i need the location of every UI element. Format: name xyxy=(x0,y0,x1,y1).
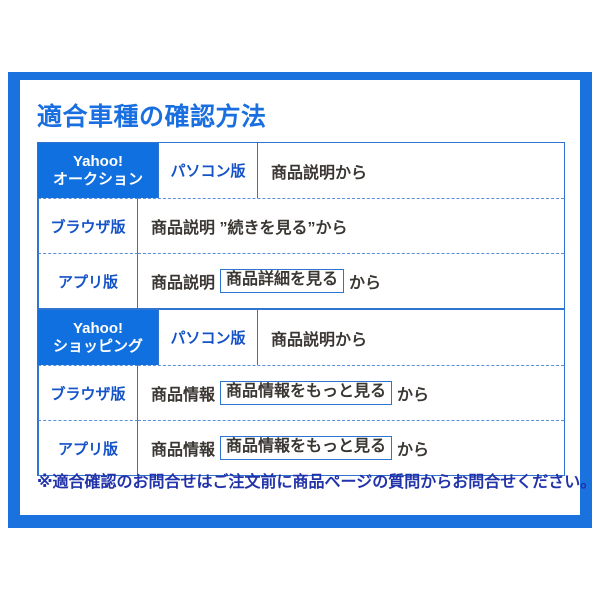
table-row: アプリ版 商品情報 商品情報をもっと見る から xyxy=(38,420,564,475)
table-group-yahoo-auction: Yahoo! オークション パソコン版 商品説明から ブラウザ版 商品説明 ”続… xyxy=(38,143,564,308)
instruction-prefix: 商品説明から xyxy=(271,159,367,183)
instruction-prefix: 商品説明 ”続きを見る”から xyxy=(151,214,347,238)
compatibility-table: Yahoo! オークション パソコン版 商品説明から ブラウザ版 商品説明 ”続… xyxy=(37,142,565,476)
table-row: ブラウザ版 商品説明 ”続きを見る”から xyxy=(38,198,564,253)
boxed-button-label: 商品詳細を見る xyxy=(220,269,344,293)
instruction-prefix: 商品情報 xyxy=(151,436,215,460)
boxed-button-label: 商品情報をもっと見る xyxy=(220,436,392,460)
instruction-prefix: 商品説明 xyxy=(151,269,215,293)
instruction-cell: 商品説明から xyxy=(258,143,564,198)
instruction-cell: 商品情報 商品情報をもっと見る から xyxy=(138,420,564,475)
table-group-yahoo-shopping: Yahoo! ショッピング パソコン版 商品説明から ブラウザ版 商品情報 商品… xyxy=(38,308,564,475)
platform-cell: ブラウザ版 xyxy=(38,365,138,420)
brand-cell-yahoo-auction: Yahoo! オークション xyxy=(38,143,158,198)
instruction-suffix: から xyxy=(397,381,429,405)
platform-cell: アプリ版 xyxy=(38,420,138,475)
platform-cell: ブラウザ版 xyxy=(38,198,138,253)
platform-cell: アプリ版 xyxy=(38,253,138,308)
footnote-text: ※適合確認のお問合せはご注文前に商品ページの質問からお問合せください。 xyxy=(37,468,596,492)
table-row: ブラウザ版 商品情報 商品情報をもっと見る から xyxy=(38,365,564,420)
white-content-panel: 適合車種の確認方法 Yahoo! オークション パソコン版 商品説明から ブラウ… xyxy=(20,80,580,515)
boxed-button-label: 商品情報をもっと見る xyxy=(220,381,392,405)
brand-label-line1: Yahoo! xyxy=(73,153,123,171)
instruction-suffix: から xyxy=(349,269,381,293)
table-row: Yahoo! ショッピング パソコン版 商品説明から xyxy=(38,310,564,365)
instruction-prefix: 商品情報 xyxy=(151,381,215,405)
table-row: アプリ版 商品説明 商品詳細を見る から xyxy=(38,253,564,308)
platform-cell: パソコン版 xyxy=(158,310,258,365)
instruction-cell: 商品情報 商品情報をもっと見る から xyxy=(138,365,564,420)
instruction-cell: 商品説明 ”続きを見る”から xyxy=(138,198,564,253)
instruction-prefix: 商品説明から xyxy=(271,326,367,350)
instruction-cell: 商品説明から xyxy=(258,310,564,365)
platform-cell: パソコン版 xyxy=(158,143,258,198)
brand-label-line1: Yahoo! xyxy=(73,320,123,338)
image-canvas: 適合車種の確認方法 Yahoo! オークション パソコン版 商品説明から ブラウ… xyxy=(0,0,600,600)
brand-cell-yahoo-shopping: Yahoo! ショッピング xyxy=(38,310,158,365)
table-row: Yahoo! オークション パソコン版 商品説明から xyxy=(38,143,564,198)
instruction-suffix: から xyxy=(397,436,429,460)
brand-label-line2: ショッピング xyxy=(53,338,143,356)
instruction-cell: 商品説明 商品詳細を見る から xyxy=(138,253,564,308)
page-title: 適合車種の確認方法 xyxy=(37,97,267,133)
brand-label-line2: オークション xyxy=(53,171,143,189)
